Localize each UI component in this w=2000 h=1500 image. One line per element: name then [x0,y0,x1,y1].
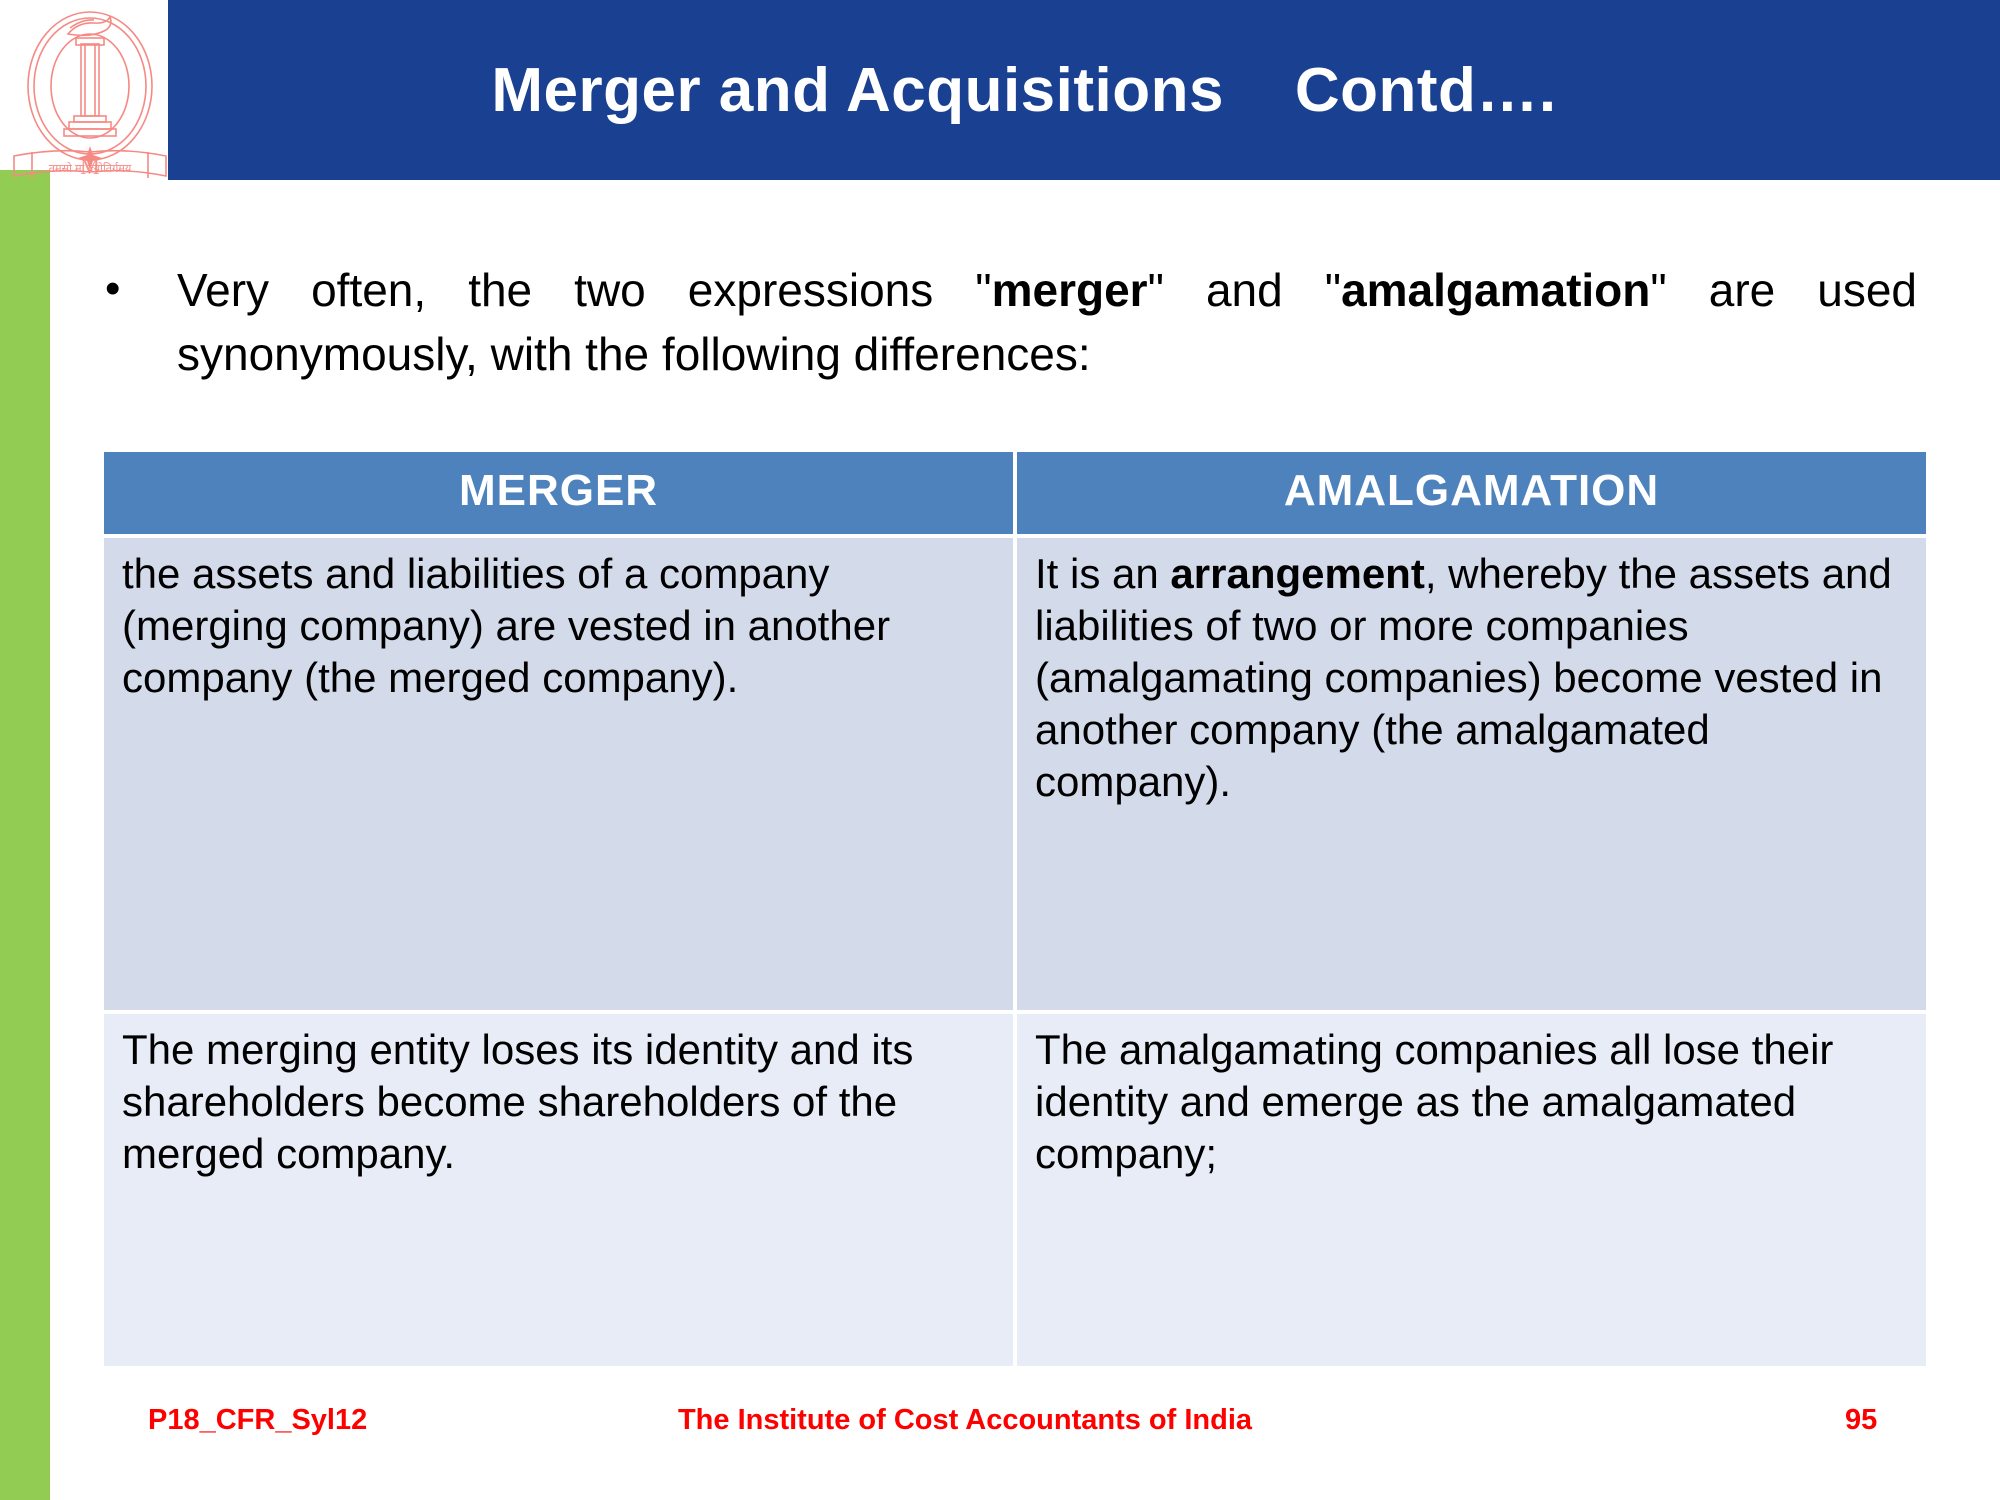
table-row: The merging entity loses its identity an… [104,1014,1926,1366]
table-header-row: MERGER AMALGAMATION [104,452,1926,534]
merger-vs-amalgamation-table: MERGER AMALGAMATION the assets and liabi… [100,448,1930,1370]
footer-page-number: 95 [1845,1404,1877,1437]
cell-amalgamation-2: The amalgamating companies all lose thei… [1017,1014,1926,1366]
cell-merger-2: The merging entity loses its identity an… [104,1014,1013,1366]
cell-amalgamation-1: It is an arrangement, whereby the assets… [1017,538,1926,1010]
column-header-amalgamation: AMALGAMATION [1017,452,1926,534]
intro-bullet: • Very often, the two expressions "merge… [105,258,1935,386]
left-green-accent-bar [0,170,50,1500]
page-title: Merger and Acquisitions Contd…. [108,0,1940,180]
slide-title-bar: Merger and Acquisitions Contd…. [168,0,2000,180]
slide-footer: P18_CFR_Syl12 The Institute of Cost Acco… [0,1400,2000,1460]
intro-bullet-text: Very often, the two expressions "merger"… [177,258,1917,386]
cell-merger-1: the assets and liabilities of a company … [104,538,1013,1010]
column-header-merger: MERGER [104,452,1013,534]
table-row: the assets and liabilities of a company … [104,538,1926,1010]
bullet-marker-icon: • [105,258,177,320]
svg-text:M: M [80,154,100,179]
footer-institute-name: The Institute of Cost Accountants of Ind… [0,1404,1930,1437]
